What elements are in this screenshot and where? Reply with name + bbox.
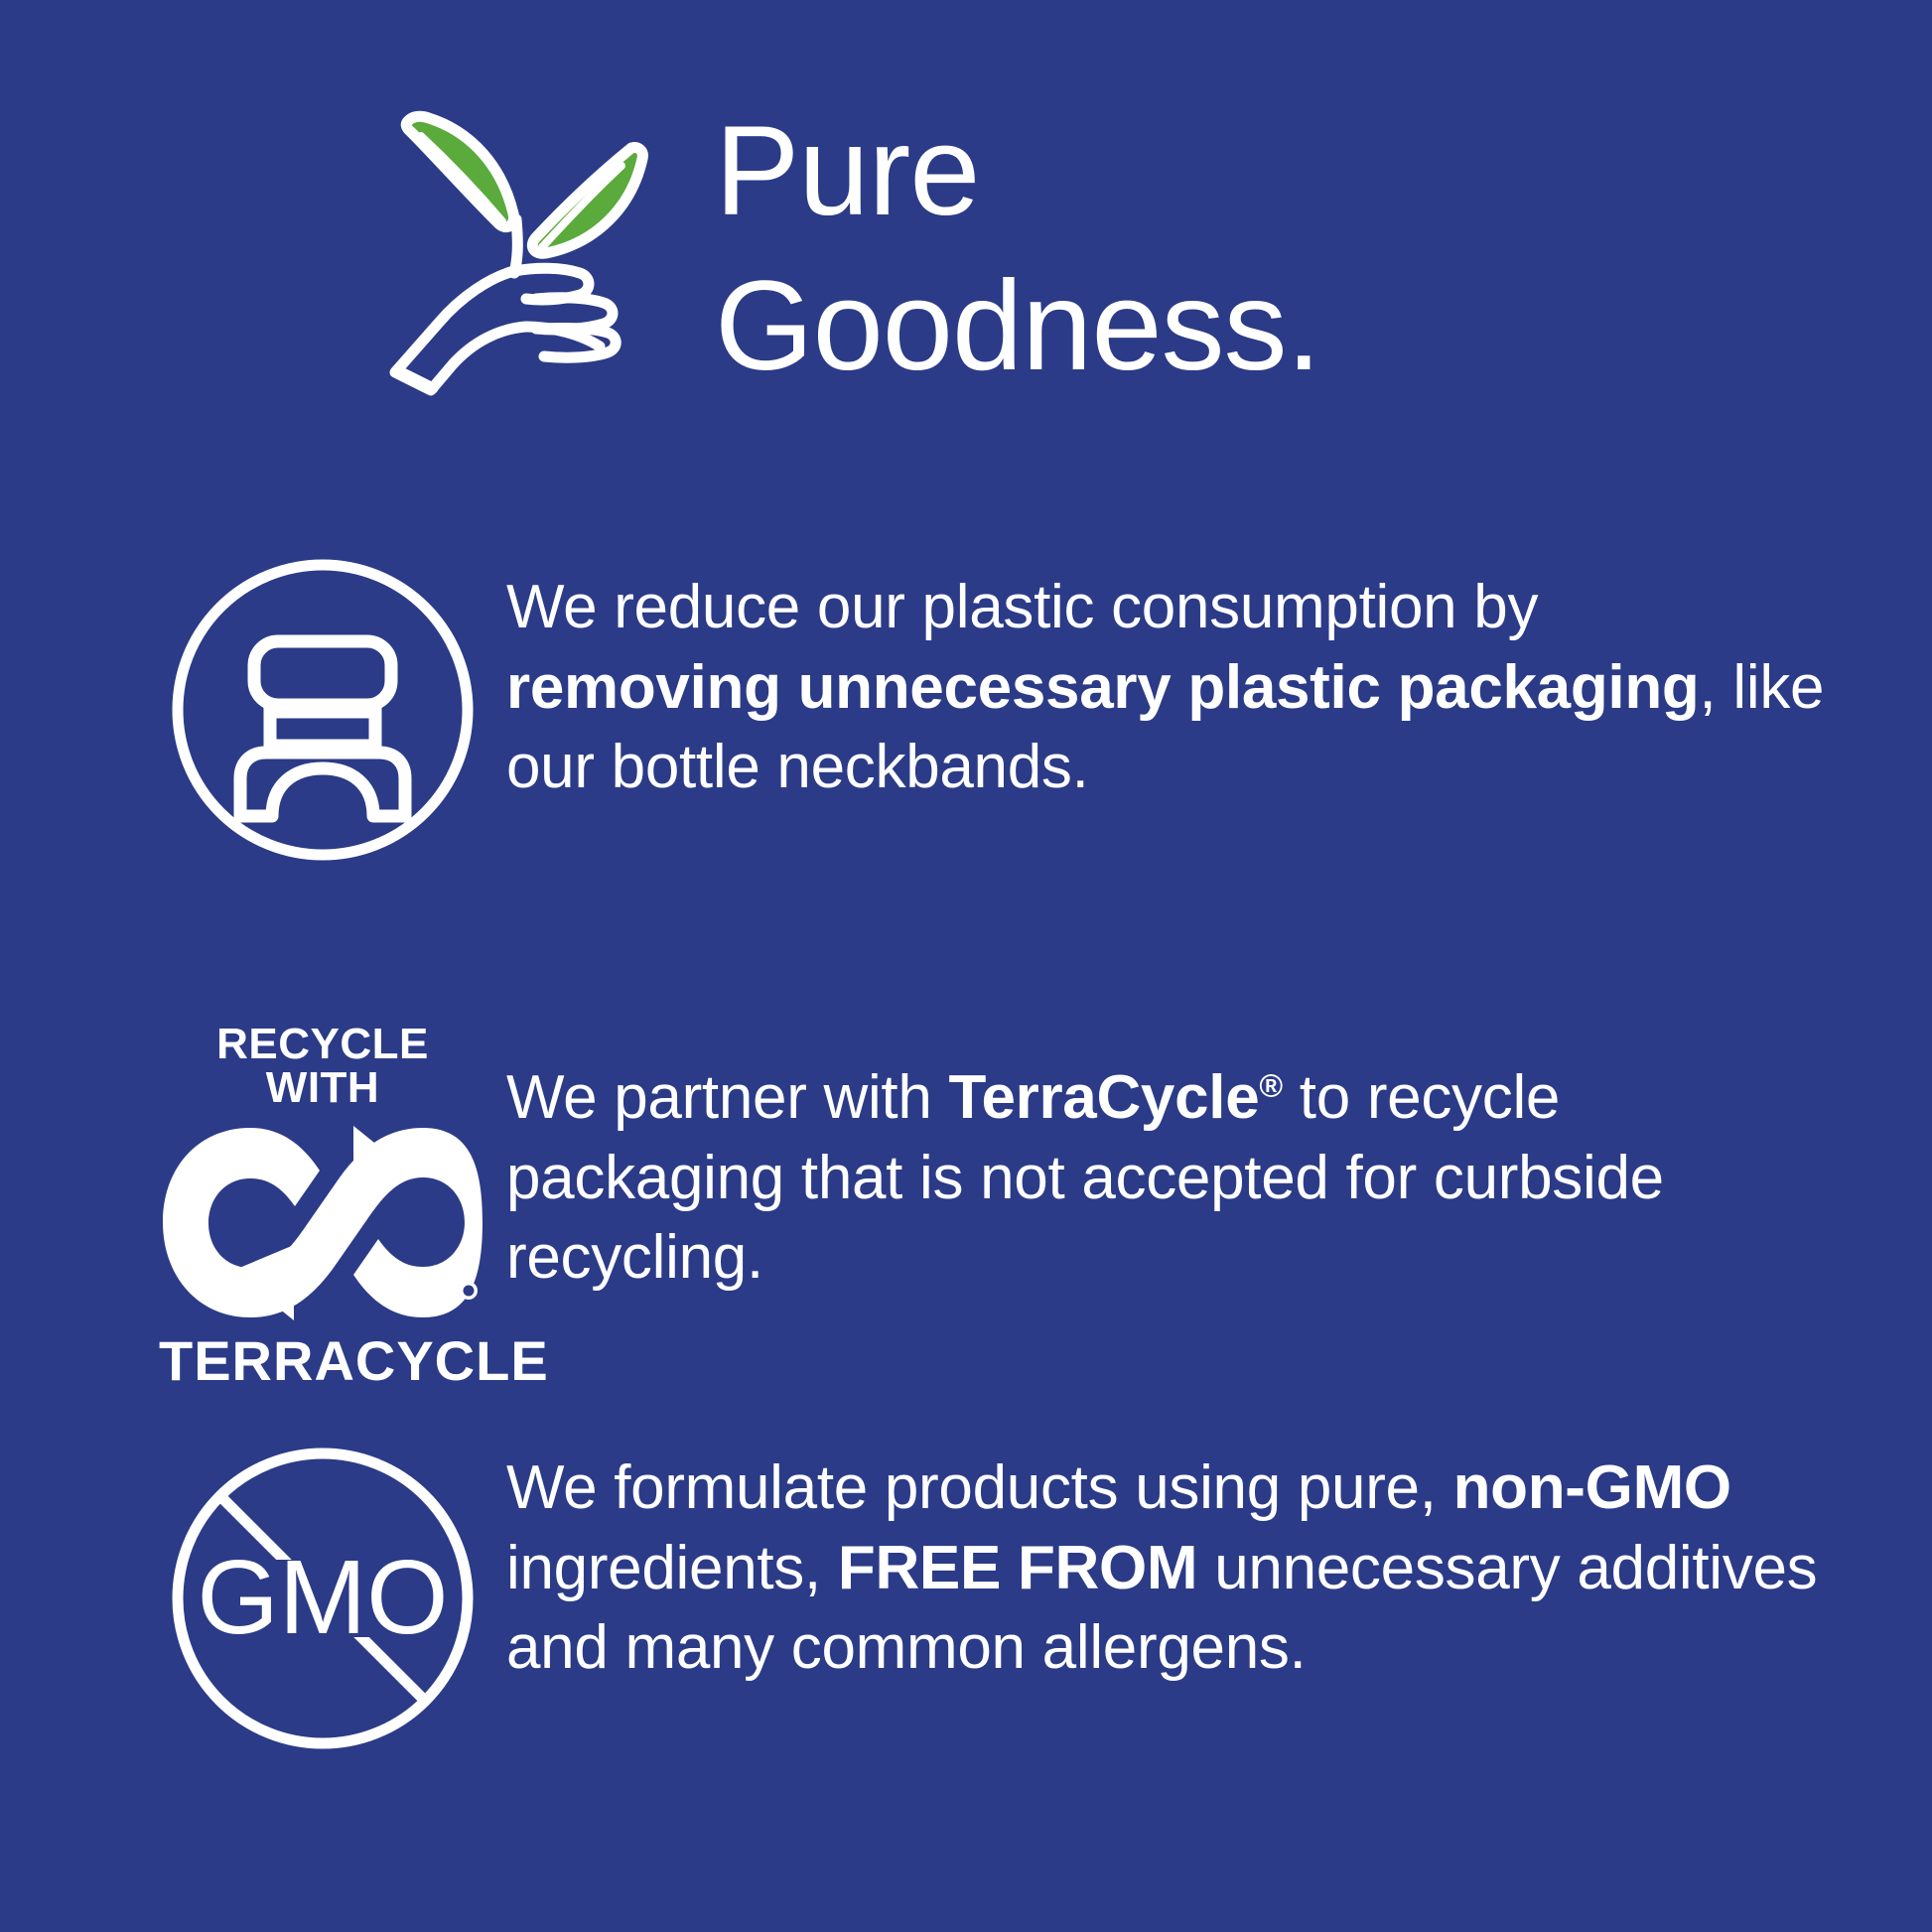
hand-holding-sprout-icon [387, 102, 685, 390]
terracycle-top-label: RECYCLE WITH [159, 1023, 486, 1110]
header: Pure Goodness. [387, 94, 1678, 392]
feature-text-segment-bold: FREE FROM [838, 1534, 1197, 1602]
no-gmo-label: GMO [197, 1539, 448, 1656]
feature-text-segment: We formulate products using pure, [506, 1453, 1453, 1522]
feature-text-segment: ingredients, [506, 1534, 838, 1602]
infinity-recycle-arrows-icon [159, 1116, 486, 1329]
feature-row-non-gmo: GMO We formulate products using pure, no… [139, 1445, 1827, 1752]
bottle-in-circle-icon [139, 556, 506, 864]
feature-row-plastic-reduction: We reduce our plastic consumption by rem… [139, 556, 1827, 864]
registered-trademark-mark: ® [1259, 1067, 1282, 1103]
pure-goodness-infographic: Pure Goodness. We reduce our plastic con… [0, 0, 1932, 1932]
terracycle-bottom-label: TERRACYCLE [159, 1333, 486, 1389]
page-title: Pure Goodness. [715, 94, 1320, 404]
feature-text-segment: We partner with [506, 1063, 948, 1132]
feature-text-segment: We reduce our plastic consumption by [506, 573, 1538, 641]
feature-text-segment-bold: removing unnecessary plastic packaging [506, 653, 1700, 722]
feature-text-terracycle: We partner with TerraCycle® to recycle p… [506, 1023, 1827, 1299]
terracycle-logo: RECYCLE WITH TERRACYCLE [139, 1023, 506, 1389]
feature-text-non-gmo: We formulate products using pure, non-GM… [506, 1445, 1827, 1689]
feature-text-segment-bold: non-GMO [1453, 1453, 1731, 1522]
no-gmo-icon: GMO [139, 1445, 506, 1752]
feature-text-segment-bold: TerraCycle [948, 1063, 1259, 1132]
feature-row-terracycle: RECYCLE WITH TERRACYCLE [139, 1023, 1827, 1389]
feature-text-plastic-reduction: We reduce our plastic consumption by rem… [506, 556, 1827, 808]
